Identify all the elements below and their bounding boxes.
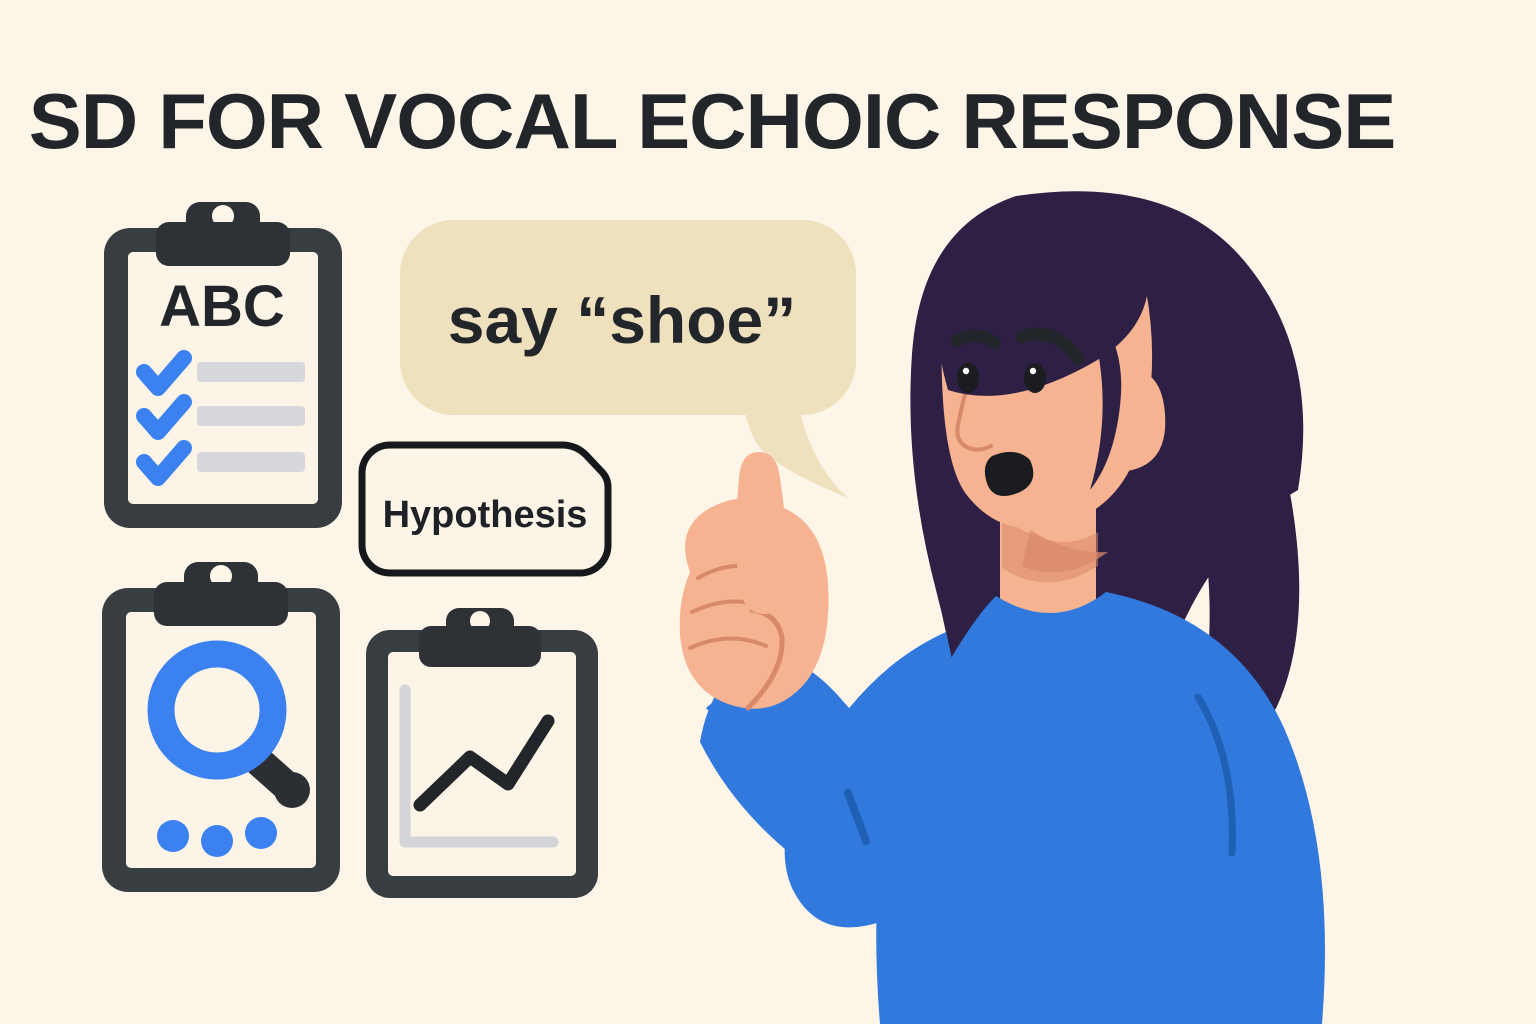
clipboard-chart-clip-bar	[419, 626, 541, 667]
eye-right-highlight	[1030, 368, 1036, 374]
checklist-bar	[197, 452, 305, 472]
hypothesis-card-label: Hypothesis	[383, 494, 588, 536]
clipboard-checklist-clip-bar	[156, 222, 290, 266]
page-title: SD FOR VOCAL ECHOIC RESPONSE	[29, 78, 1396, 165]
clipboard-research	[102, 562, 340, 892]
research-dot	[157, 820, 189, 852]
clipboard-checklist: ABC	[104, 202, 342, 528]
clipboard-chart	[366, 608, 598, 898]
illustration-canvas: SD FOR VOCAL ECHOIC RESPONSE ABC	[0, 0, 1536, 1024]
eye-left	[957, 363, 979, 393]
hypothesis-card: Hypothesis	[362, 445, 608, 573]
magnifier-handle-knob-icon	[274, 772, 310, 808]
eye-left-highlight	[963, 368, 969, 374]
checklist-bar	[197, 406, 305, 426]
research-dot	[201, 825, 233, 857]
research-dot	[245, 817, 277, 849]
clipboard-research-clip-bar	[154, 582, 288, 626]
checklist-bar	[197, 362, 305, 382]
eye-right	[1024, 363, 1046, 393]
clipboard-checklist-heading: ABC	[159, 274, 285, 339]
scene-svg: SD FOR VOCAL ECHOIC RESPONSE ABC	[0, 0, 1536, 1024]
speech-bubble-text: say “shoe”	[448, 283, 797, 357]
